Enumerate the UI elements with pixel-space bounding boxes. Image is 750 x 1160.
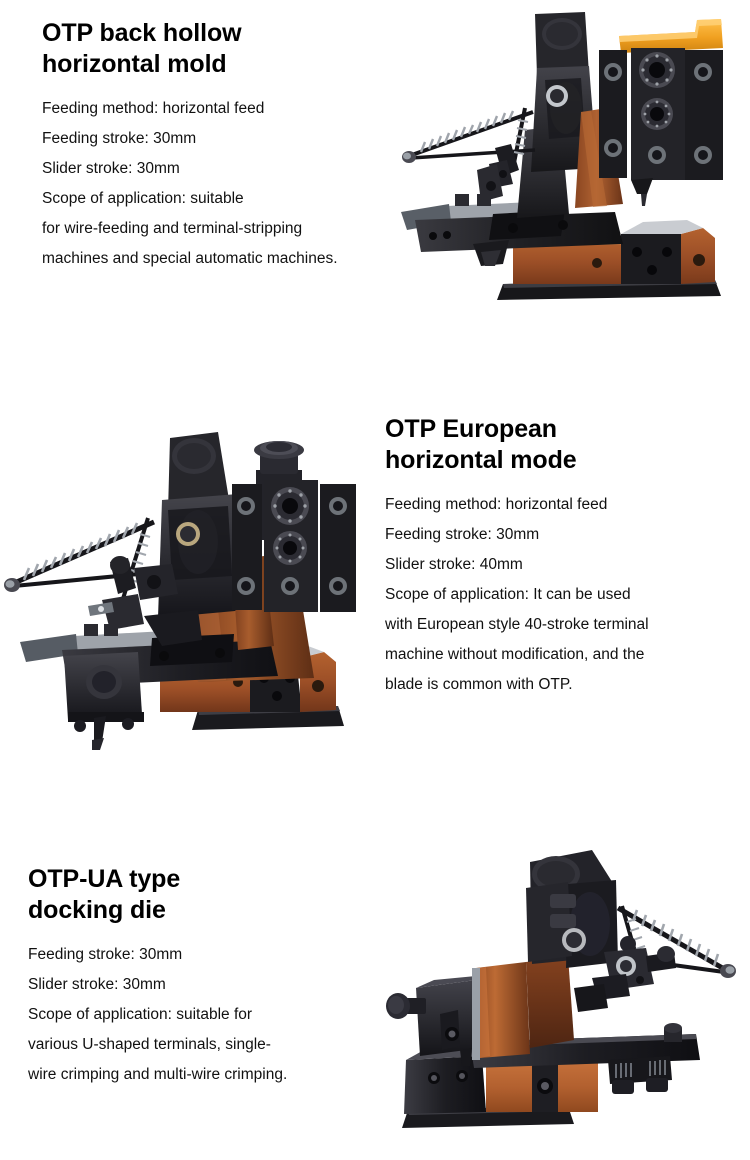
- heading-line-2: horizontal mode: [385, 446, 577, 474]
- section-otp-european-horizontal-mode-text: OTP European horizontal mode Feeding met…: [385, 414, 735, 700]
- spec-line: Feeding stroke: 30mm: [42, 124, 382, 154]
- heading-line-1: OTP European: [385, 415, 557, 443]
- section-3-product-image: [378, 828, 748, 1148]
- heading-line-1: OTP-UA type: [28, 865, 180, 893]
- left-head-block: [386, 976, 482, 1066]
- spec-line: wire crimping and multi-wire crimping.: [28, 1060, 368, 1090]
- knurled-collar-top: [271, 487, 309, 525]
- section-1-product-image: [385, 8, 745, 308]
- spec-line: with European style 40-stroke terminal: [385, 610, 735, 640]
- spec-line: Slider stroke: 40mm: [385, 550, 735, 580]
- spec-line: for wire-feeding and terminal-stripping: [42, 214, 382, 244]
- spec-line: Scope of application: suitable: [42, 184, 382, 214]
- spec-line: Slider stroke: 30mm: [42, 154, 382, 184]
- spec-line: blade is common with OTP.: [385, 670, 735, 700]
- spec-line: machines and special automatic machines.: [42, 244, 382, 274]
- section-1-spec-list: Feeding method: horizontal feed Feeding …: [42, 94, 382, 274]
- section-otp-back-hollow-horizontal-mold-text: OTP back hollow horizontal mold Feeding …: [42, 18, 382, 274]
- knurled-collar-bottom: [641, 98, 673, 130]
- spec-line: Feeding stroke: 30mm: [385, 520, 735, 550]
- spec-line: Slider stroke: 30mm: [28, 970, 368, 1000]
- spec-line: machine without modification, and the: [385, 640, 735, 670]
- section-2-product-image: [2, 410, 374, 755]
- spring-lever-arm: [402, 108, 535, 202]
- section-3-heading: OTP-UA type docking die: [28, 864, 368, 926]
- orange-top-plate: [619, 19, 723, 53]
- spec-line: Scope of application: suitable for: [28, 1000, 368, 1030]
- section-3-spec-list: Feeding stroke: 30mm Slider stroke: 30mm…: [28, 940, 368, 1090]
- section-2-heading: OTP European horizontal mode: [385, 414, 735, 476]
- section-1-heading: OTP back hollow horizontal mold: [42, 18, 382, 80]
- spec-line: Feeding method: horizontal feed: [385, 490, 735, 520]
- main-body: [526, 850, 618, 968]
- heading-line-2: horizontal mold: [42, 50, 227, 78]
- knurled-collar-top: [639, 52, 675, 88]
- heading-line-2: docking die: [28, 896, 166, 924]
- section-2-spec-list: Feeding method: horizontal feed Feeding …: [385, 490, 735, 700]
- product-spec-page: OTP back hollow horizontal mold Feeding …: [0, 0, 750, 1160]
- spec-line: various U-shaped terminals, single-: [28, 1030, 368, 1060]
- heading-line-1: OTP back hollow: [42, 19, 241, 47]
- spec-line: Feeding method: horizontal feed: [42, 94, 382, 124]
- knurled-collar-bottom: [273, 531, 307, 565]
- tool-block-stack: [232, 480, 356, 612]
- spec-line: Feeding stroke: 30mm: [28, 940, 368, 970]
- section-otp-ua-type-docking-die-text: OTP-UA type docking die Feeding stroke: …: [28, 864, 368, 1090]
- spec-line: Scope of application: It can be used: [385, 580, 735, 610]
